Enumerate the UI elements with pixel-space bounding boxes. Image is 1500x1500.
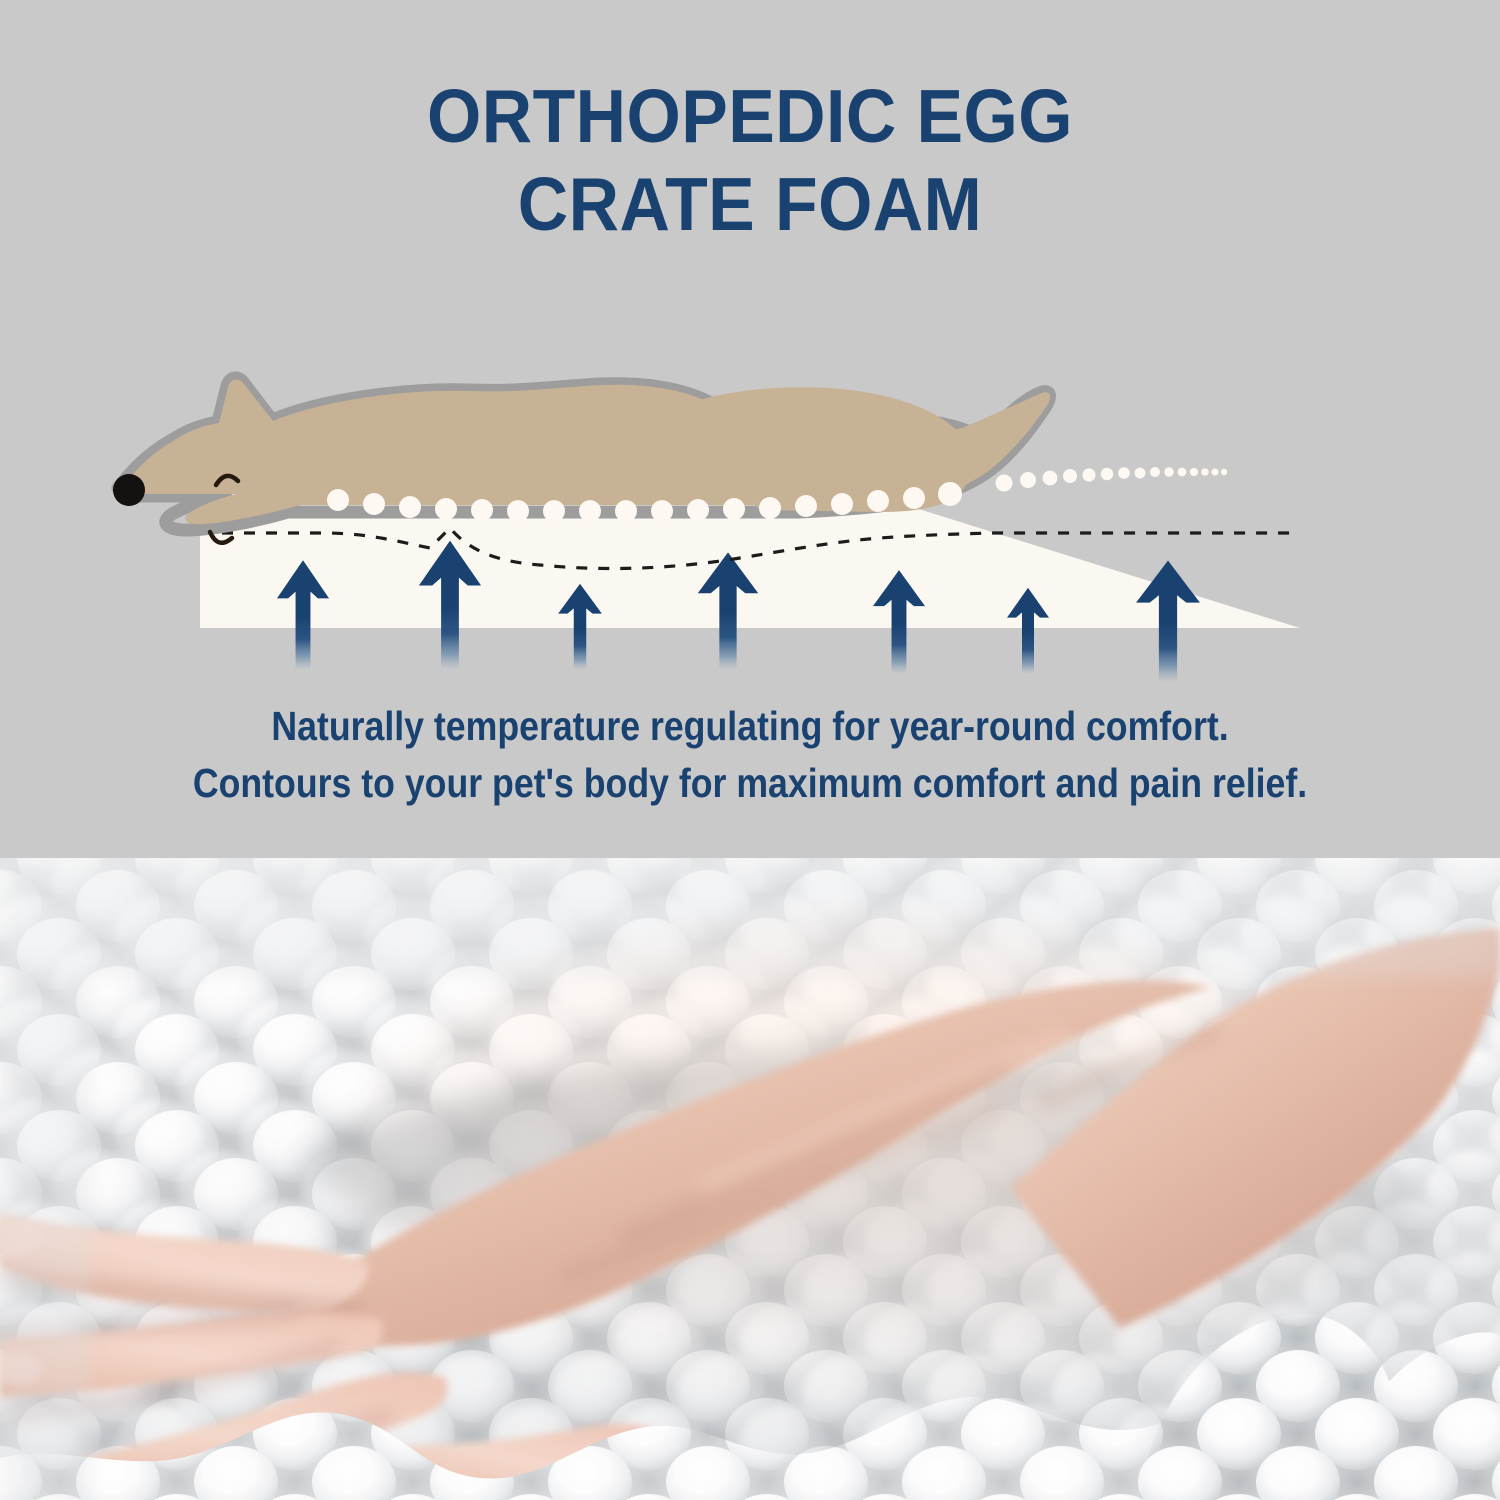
dog-nose: [113, 474, 145, 506]
dog-on-foam-illustration: [0, 300, 1500, 690]
caption-line-1: Naturally temperature regulating for yea…: [98, 698, 1403, 755]
product-infographic: ORTHOPEDIC EGG CRATE FOAM: [0, 0, 1500, 1500]
info-panel: ORTHOPEDIC EGG CRATE FOAM: [0, 0, 1500, 858]
caption-line-2: Contours to your pet's body for maximum …: [98, 755, 1403, 812]
feature-captions: Naturally temperature regulating for yea…: [0, 698, 1500, 812]
page-title: ORTHOPEDIC EGG CRATE FOAM: [53, 72, 1448, 248]
dog-illustration: [113, 378, 1227, 543]
dog-tail-dots: [996, 467, 1228, 492]
foam-photo: [0, 858, 1500, 1500]
